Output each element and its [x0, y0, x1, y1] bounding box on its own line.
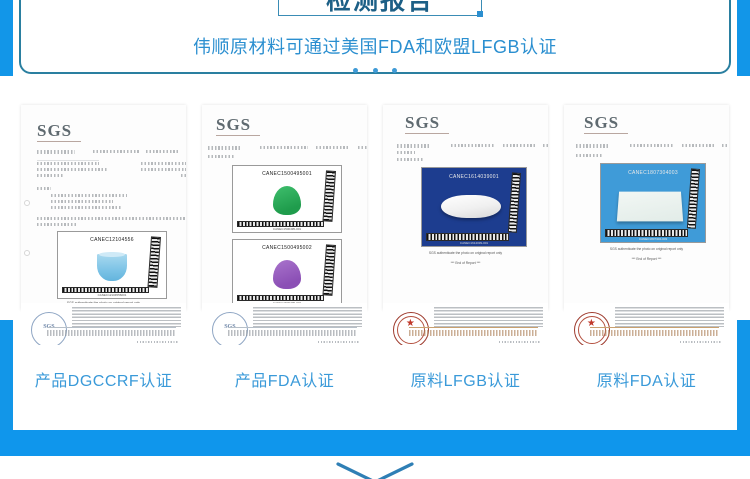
- sgs-logo-underline: [584, 133, 628, 134]
- certificate-document-4[interactable]: SGS CANEC1807304003 CANEC1807304-003 SGS…: [564, 105, 729, 310]
- sgs-logo: SGS: [37, 121, 72, 141]
- sgs-logo: SGS: [584, 113, 619, 133]
- sample-photo-caption: CANEC12104556001: [58, 293, 166, 297]
- end-of-report-note: *** End of Report ***: [383, 261, 548, 265]
- approval-seal-icon: [574, 312, 610, 345]
- report-label-text: [576, 144, 610, 148]
- photo-authenticity-note: SGS authenticate the photo on original r…: [564, 247, 729, 251]
- section-title-box: 检测报告: [278, 0, 482, 16]
- sgs-seal-icon: [212, 312, 248, 345]
- ruler-icon: [323, 170, 336, 221]
- table-row-text: [37, 162, 99, 165]
- report-label-text: [37, 150, 75, 154]
- table-rule: [37, 160, 99, 161]
- table-row-text: [37, 174, 63, 177]
- sample-object-green-drop: [273, 186, 301, 215]
- notes-label: [37, 187, 51, 190]
- certificate-document-3[interactable]: SGS CANEC1614039001 CANEC1614039-001 SGS…: [383, 105, 548, 310]
- letterhead-rule: [47, 327, 176, 328]
- sample-photo-2-top: CANEC1500495001 CANEC1500495-001: [232, 165, 342, 233]
- ruler-icon: [323, 244, 336, 295]
- letterhead-microtext: [615, 307, 724, 326]
- letterhead-contact-line: [228, 333, 357, 336]
- sample-photo-2-bottom: CANEC1500495002 CANEC1500495-002: [232, 239, 342, 307]
- ruler-icon: [605, 229, 688, 236]
- sample-photo-label: [208, 155, 234, 158]
- table-row-values: [141, 162, 186, 165]
- ruler-icon: [148, 236, 161, 287]
- letterhead-microtext: [434, 307, 543, 326]
- letterhead-rule: [590, 327, 719, 328]
- sample-photo-caption: CANEC1500495-001: [233, 227, 341, 231]
- photo-authenticity-note: SGS authenticate the photo on original r…: [383, 251, 548, 255]
- certification-section: 检测报告 伟顺原材料可通过美国FDA和欧盟LFGB认证 SGS: [0, 0, 750, 479]
- report-subtitle-text: [397, 151, 415, 154]
- note-line: [51, 206, 121, 209]
- report-no-text: [630, 144, 674, 147]
- sample-photo-label: [37, 223, 77, 226]
- sample-photo-label: [576, 154, 602, 157]
- letterhead-contact-line: [47, 333, 176, 336]
- sgs-seal-icon: [31, 312, 67, 345]
- report-date-text: [503, 144, 535, 147]
- sample-object-pebble: [441, 195, 501, 218]
- letterhead-rule: [409, 327, 538, 328]
- hole-punch-icon: [24, 200, 30, 206]
- letterhead-strip-2: [202, 303, 367, 345]
- sample-photo-caption: CANEC1807304-003: [601, 237, 705, 241]
- sgs-logo-underline: [37, 141, 81, 142]
- letterhead-microtext: [72, 307, 181, 326]
- report-page-text: [358, 146, 367, 149]
- page-title: 检测报告: [279, 0, 481, 14]
- sample-photo-3: CANEC1614039001 CANEC1614039-001: [421, 167, 527, 247]
- report-date-text: [316, 146, 350, 149]
- certificate-cell[interactable]: SGS CANEC1807304003 CANEC1807304-003 SGS…: [556, 105, 737, 405]
- report-no-text: [93, 150, 139, 153]
- certificate-cell[interactable]: SGS CANEC12104: [13, 105, 194, 405]
- sgs-logo-underline: [216, 135, 260, 136]
- scroll-down-chevron-icon[interactable]: [330, 462, 420, 479]
- sgs-logo-underline: [405, 133, 449, 134]
- sample-code-label: CANEC1614039001: [422, 174, 526, 180]
- certificate-cell[interactable]: SGS CANEC1500495001 CANEC1500495-001 CAN…: [194, 105, 375, 405]
- sample-object-purple-drop: [273, 260, 301, 289]
- sample-photo-1: CANEC12104556 CANEC12104556001: [57, 231, 167, 299]
- letterhead-footer-note: [318, 341, 361, 343]
- report-date-text: [146, 150, 180, 153]
- section-subtitle: 伟顺原材料可通过美国FDA和欧盟LFGB认证: [0, 33, 750, 59]
- approval-seal-icon: [393, 312, 429, 345]
- table-row-values: [181, 174, 186, 177]
- sample-photo-4: CANEC1807304003 CANEC1807304-003: [600, 163, 706, 243]
- report-date-text: [682, 144, 714, 147]
- ruler-icon: [426, 233, 509, 240]
- sample-photo-caption: CANEC1614039-001: [422, 241, 526, 245]
- remark-line: [37, 217, 186, 220]
- report-page-text: [722, 144, 729, 147]
- report-label-text: [208, 146, 240, 150]
- report-no-text: [260, 146, 308, 149]
- title-corner-marker: [477, 11, 483, 17]
- dot-icon: [392, 68, 397, 73]
- sgs-logo: SGS: [405, 113, 440, 133]
- hole-punch-icon: [24, 250, 30, 256]
- letterhead-footer-note: [680, 341, 723, 343]
- sgs-logo: SGS: [216, 115, 251, 135]
- certificate-caption-1: 产品DGCCRF认证: [13, 367, 194, 391]
- note-line: [51, 194, 127, 197]
- letterhead-strip-3: [383, 303, 548, 345]
- sample-code-label: CANEC1807304003: [601, 170, 705, 176]
- letterhead-rule: [228, 327, 357, 328]
- certificate-caption-4: 原料FDA认证: [556, 367, 737, 391]
- letterhead-footer-note: [499, 341, 542, 343]
- certificate-document-1[interactable]: SGS CANEC12104: [21, 105, 186, 310]
- end-of-report-note: *** End of Report ***: [564, 257, 729, 261]
- report-page-text: [543, 144, 548, 147]
- dot-icon: [353, 68, 358, 73]
- letterhead-strip-4: [564, 303, 729, 345]
- letterhead-microtext: [253, 307, 362, 326]
- certificate-caption-2: 产品FDA认证: [194, 367, 375, 391]
- note-line: [51, 200, 113, 203]
- report-label-text: [397, 144, 431, 148]
- certificate-grid: SGS CANEC12104: [13, 105, 737, 405]
- certificate-cell[interactable]: SGS CANEC1614039001 CANEC1614039-001 SGS…: [375, 105, 556, 405]
- letterhead-contact-line: [409, 333, 538, 336]
- table-row-text: [37, 168, 107, 171]
- footer-bar: [0, 430, 750, 456]
- dot-icon: [373, 68, 378, 73]
- sample-photo-label: [397, 158, 423, 161]
- letterhead-contact-line: [590, 333, 719, 336]
- certificate-caption-3: 原料LFGB认证: [375, 367, 556, 391]
- sample-object-bowl: [97, 254, 127, 282]
- letterhead-strip-1: [21, 303, 186, 345]
- sample-object-sheet: [616, 191, 683, 220]
- letterhead-footer-note: [137, 341, 180, 343]
- table-row-values: [141, 168, 186, 171]
- report-no-text: [451, 144, 495, 147]
- certificate-document-2[interactable]: SGS CANEC1500495001 CANEC1500495-001 CAN…: [202, 105, 367, 310]
- decorative-dots: [0, 60, 750, 78]
- ruler-icon: [686, 169, 699, 229]
- ruler-icon: [507, 173, 520, 233]
